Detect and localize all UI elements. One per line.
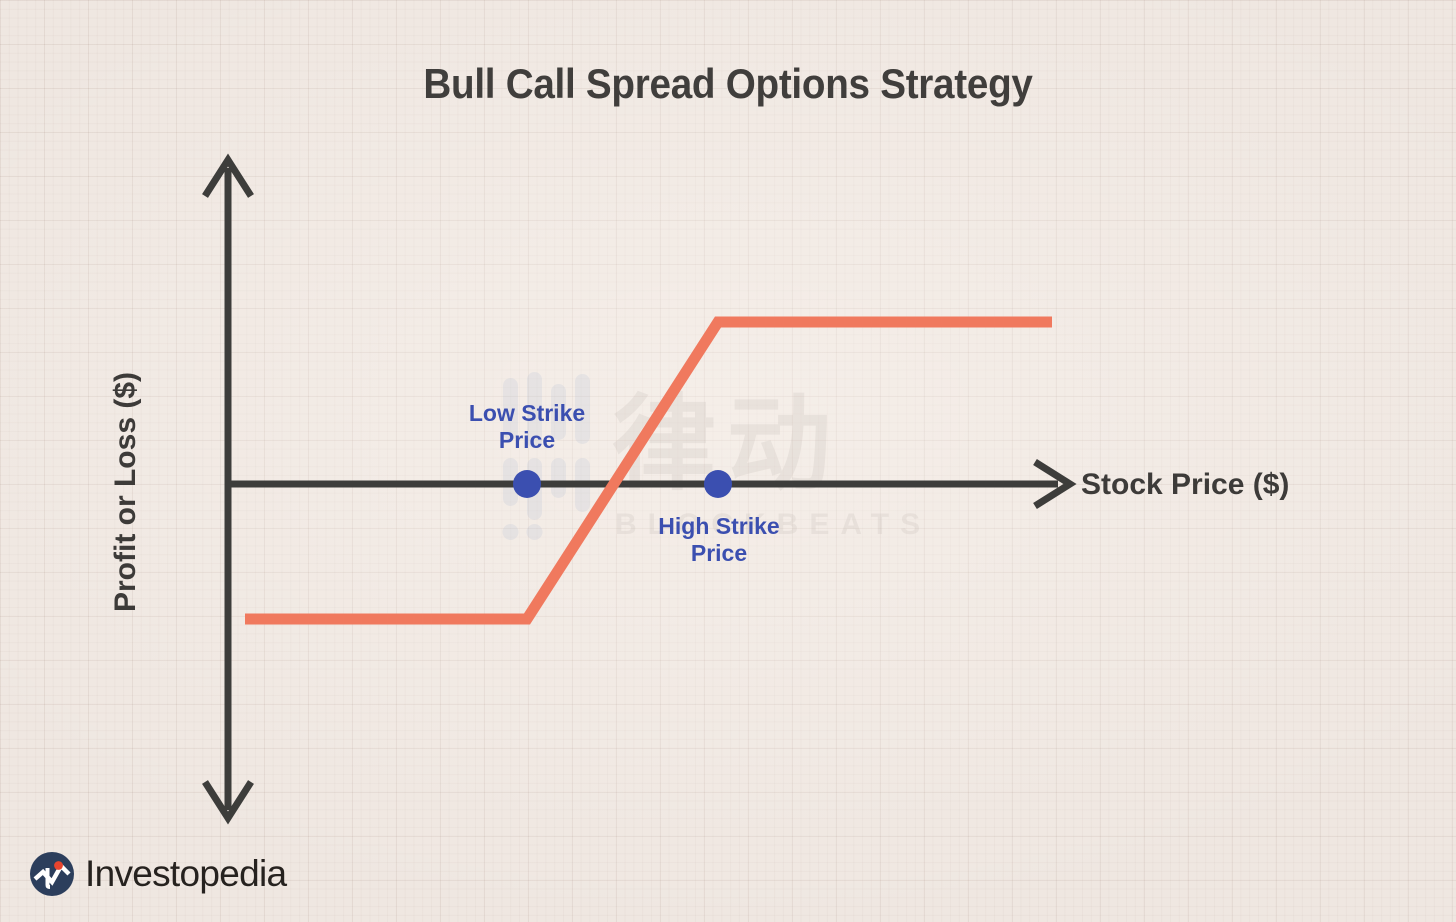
payoff-line [245, 322, 1052, 619]
chart-canvas: 律 动 BLOCKBEATS Bull Call Spread Options … [0, 0, 1456, 922]
payoff-diagram [0, 0, 1456, 922]
high-strike-marker [704, 470, 732, 498]
investopedia-logo: Investopedia [30, 852, 286, 896]
low-strike-marker [513, 470, 541, 498]
y-axis-label: Profit or Loss ($) [109, 342, 143, 642]
low-strike-price-label: Low Strike Price [427, 400, 627, 454]
x-axis-label: Stock Price ($) [1081, 468, 1289, 502]
investopedia-mark-icon [30, 852, 74, 896]
high-strike-price-label: High Strike Price [619, 513, 819, 567]
investopedia-wordmark: Investopedia [85, 853, 286, 895]
